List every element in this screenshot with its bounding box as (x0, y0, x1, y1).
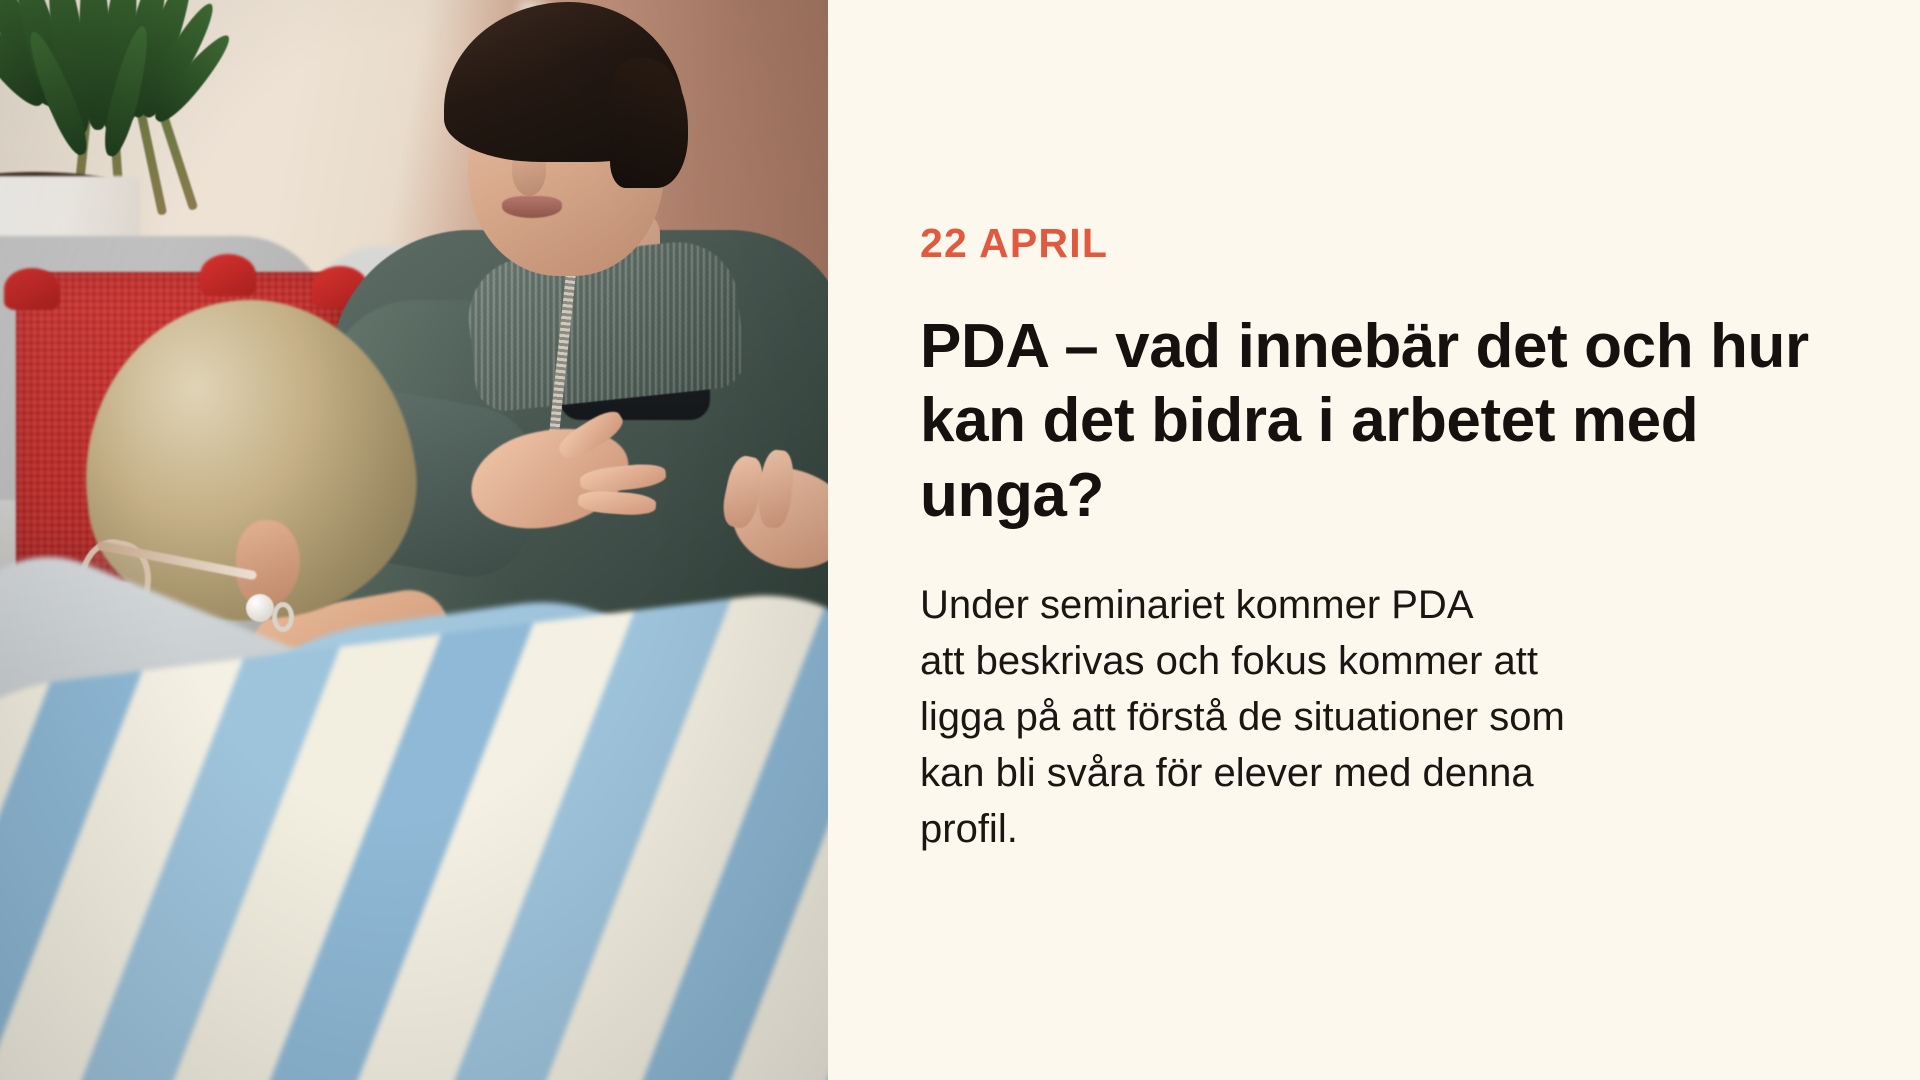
description-line: profil. (920, 801, 1820, 857)
event-date: 22 APRIL (920, 223, 1824, 264)
page-title: PDA – vad innebär det och hur kan det bi… (920, 310, 1824, 533)
event-text-panel: 22 APRIL PDA – vad innebär det och hur k… (828, 0, 1920, 1080)
description-line: att beskrivas och fokus kommer att (920, 633, 1820, 689)
cushion-corner (200, 254, 256, 296)
lips (502, 196, 562, 218)
description-line: ligga på att förstå de situationer som (920, 689, 1820, 745)
description-line: kan bli svåra för elever med denna (920, 745, 1820, 801)
event-hero-slide: 22 APRIL PDA – vad innebär det och hur k… (0, 0, 1920, 1080)
description-line: Under seminariet kommer PDA (920, 577, 1820, 633)
earring-icon (246, 594, 274, 622)
event-photo (0, 0, 828, 1080)
event-description: Under seminariet kommer PDA att beskriva… (920, 577, 1820, 857)
cushion-corner (4, 268, 60, 310)
earring-hoop-icon (272, 602, 294, 632)
headline-line: PDA – vad innebär det och (920, 312, 1693, 381)
